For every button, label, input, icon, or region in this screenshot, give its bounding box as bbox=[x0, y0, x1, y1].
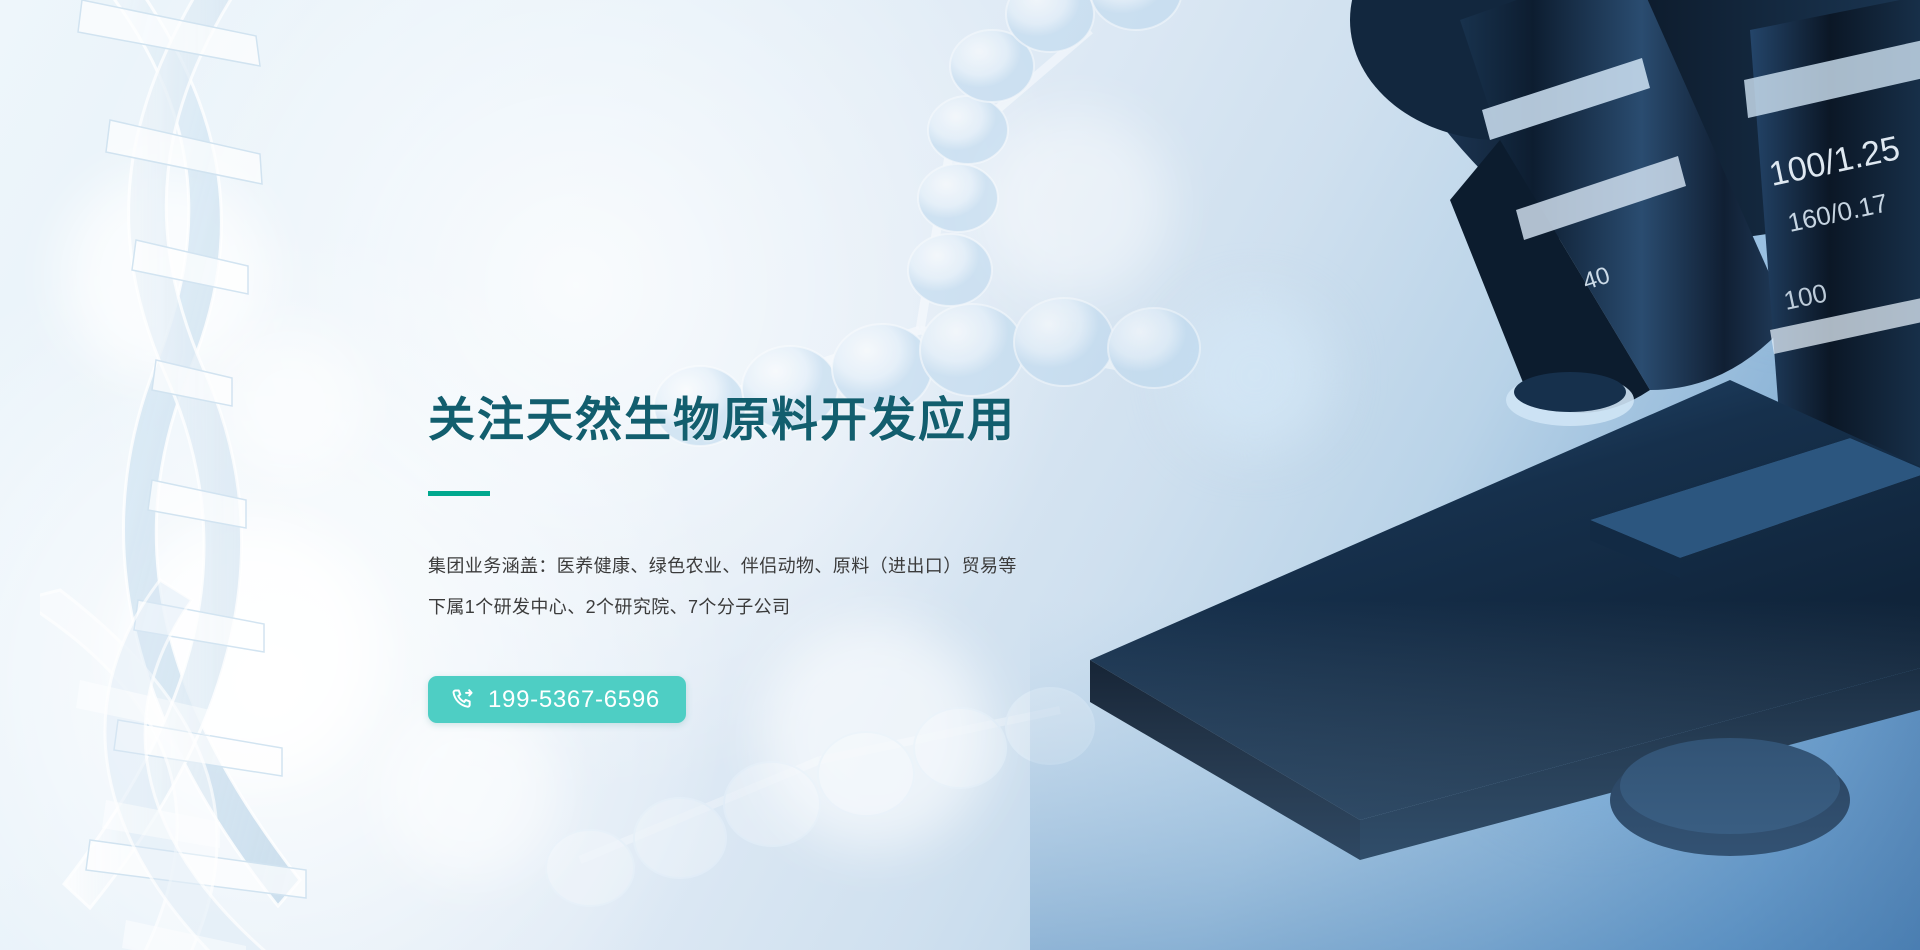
svg-text:160/0.17: 160/0.17 bbox=[1785, 187, 1890, 237]
phone-forwarded-icon bbox=[450, 687, 475, 712]
bokeh-light bbox=[980, 110, 1170, 300]
bokeh-light bbox=[120, 520, 380, 780]
bokeh-light bbox=[60, 170, 270, 380]
hero-banner: 100/1.25 160/0.17 100 40 关注天然生物原料开发应用 集团… bbox=[0, 0, 1920, 950]
bokeh-light bbox=[215, 330, 365, 480]
hero-content: 关注天然生物原料开发应用 集团业务涵盖：医养健康、绿色农业、伴侣动物、原料（进出… bbox=[428, 392, 1248, 723]
page-title: 关注天然生物原料开发应用 bbox=[428, 392, 1248, 447]
hero-description: 集团业务涵盖：医养健康、绿色农业、伴侣动物、原料（进出口）贸易等 下属1个研发中… bbox=[428, 546, 1248, 628]
description-line-1: 集团业务涵盖：医养健康、绿色农业、伴侣动物、原料（进出口）贸易等 bbox=[428, 546, 1248, 587]
svg-text:100: 100 bbox=[1781, 278, 1830, 316]
svg-text:40: 40 bbox=[1580, 262, 1614, 296]
bokeh-light bbox=[1700, 120, 1900, 320]
phone-number-label: 199-5367-6596 bbox=[488, 688, 660, 712]
bokeh-light bbox=[1460, 560, 1720, 820]
title-divider bbox=[428, 491, 490, 496]
description-line-2: 下属1个研发中心、2个研究院、7个分子公司 bbox=[428, 587, 1248, 628]
svg-text:100/1.25: 100/1.25 bbox=[1766, 129, 1903, 194]
bokeh-light bbox=[380, 700, 560, 880]
phone-call-button[interactable]: 199-5367-6596 bbox=[428, 676, 686, 723]
